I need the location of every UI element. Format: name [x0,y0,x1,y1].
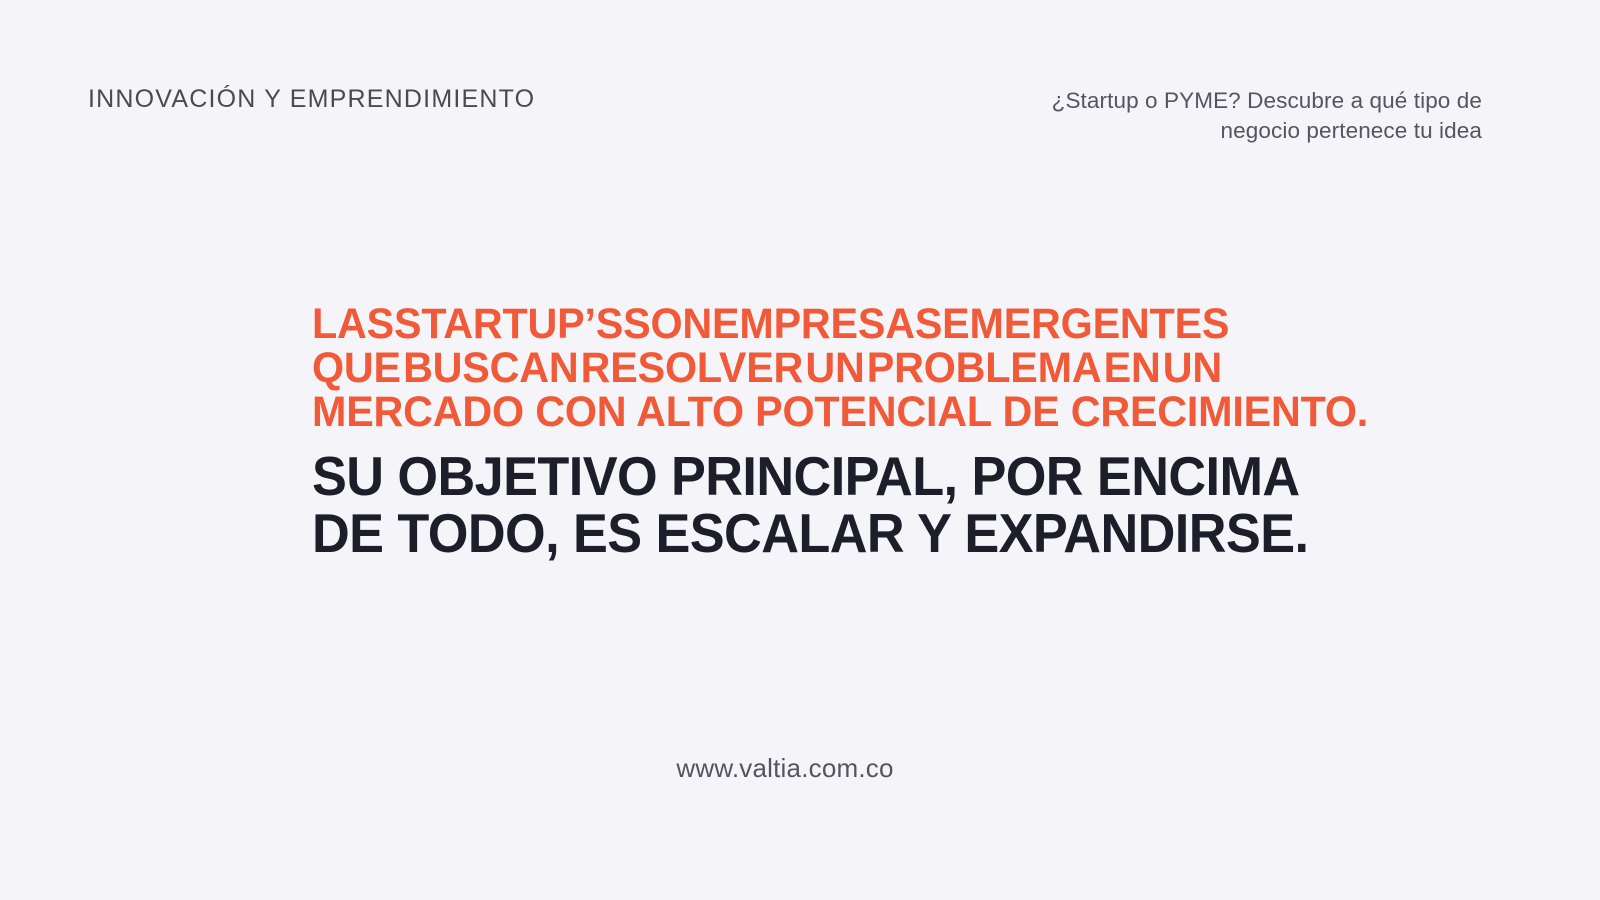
highlight-word: EN [1104,346,1161,390]
statement-paragraph: SU OBJETIVO PRINCIPAL, POR ENCIMA DE TOD… [312,434,1213,562]
highlight-word: EMERGENTES [942,302,1229,346]
highlight-word: BUSCAN [403,346,578,390]
header-subject-line-2: negocio pertenece tu idea [962,116,1482,146]
highlight-word: UN [805,346,864,390]
highlight-word: STARTUP’S [394,302,623,346]
highlight-word: PROBLEMA [867,346,1102,390]
highlight-line-3: MERCADO CON ALTO POTENCIAL DE CRECIMIENT… [312,390,1222,434]
header-subject: ¿Startup o PYME? Descubre a qué tipo de … [962,86,1482,146]
header-subject-line-1: ¿Startup o PYME? Descubre a qué tipo de [962,86,1482,116]
highlight-word: UN [1163,346,1222,390]
highlight-word: QUE [312,346,401,390]
highlight-line-2: QUE BUSCAN RESOLVER UN PROBLEMA EN UN [312,346,1222,390]
highlight-line-1: LAS STARTUP’S SON EMPRESAS EMERGENTES [312,302,1222,346]
footer-website[interactable]: www.valtia.com.co [0,753,1600,784]
header-category-label: INNOVACIÓN Y EMPRENDIMIENTO [88,84,535,114]
highlight-word: SON [623,302,712,346]
slide-canvas: INNOVACIÓN Y EMPRENDIMIENTO ¿Startup o P… [0,0,1600,900]
statement-line-1: SU OBJETIVO PRINCIPAL, POR ENCIMA [312,448,1213,505]
highlight-word: LAS [312,302,394,346]
footer-website-text: www.valtia.com.co [676,753,893,784]
highlight-paragraph: LAS STARTUP’S SON EMPRESAS EMERGENTES QU… [312,302,1222,434]
highlight-word: RESOLVER [581,346,803,390]
statement-line-2: DE TODO, ES ESCALAR Y EXPANDIRSE. [312,505,1213,562]
main-text-block: LAS STARTUP’S SON EMPRESAS EMERGENTES QU… [312,302,1260,562]
highlight-word: EMPRESAS [712,302,942,346]
